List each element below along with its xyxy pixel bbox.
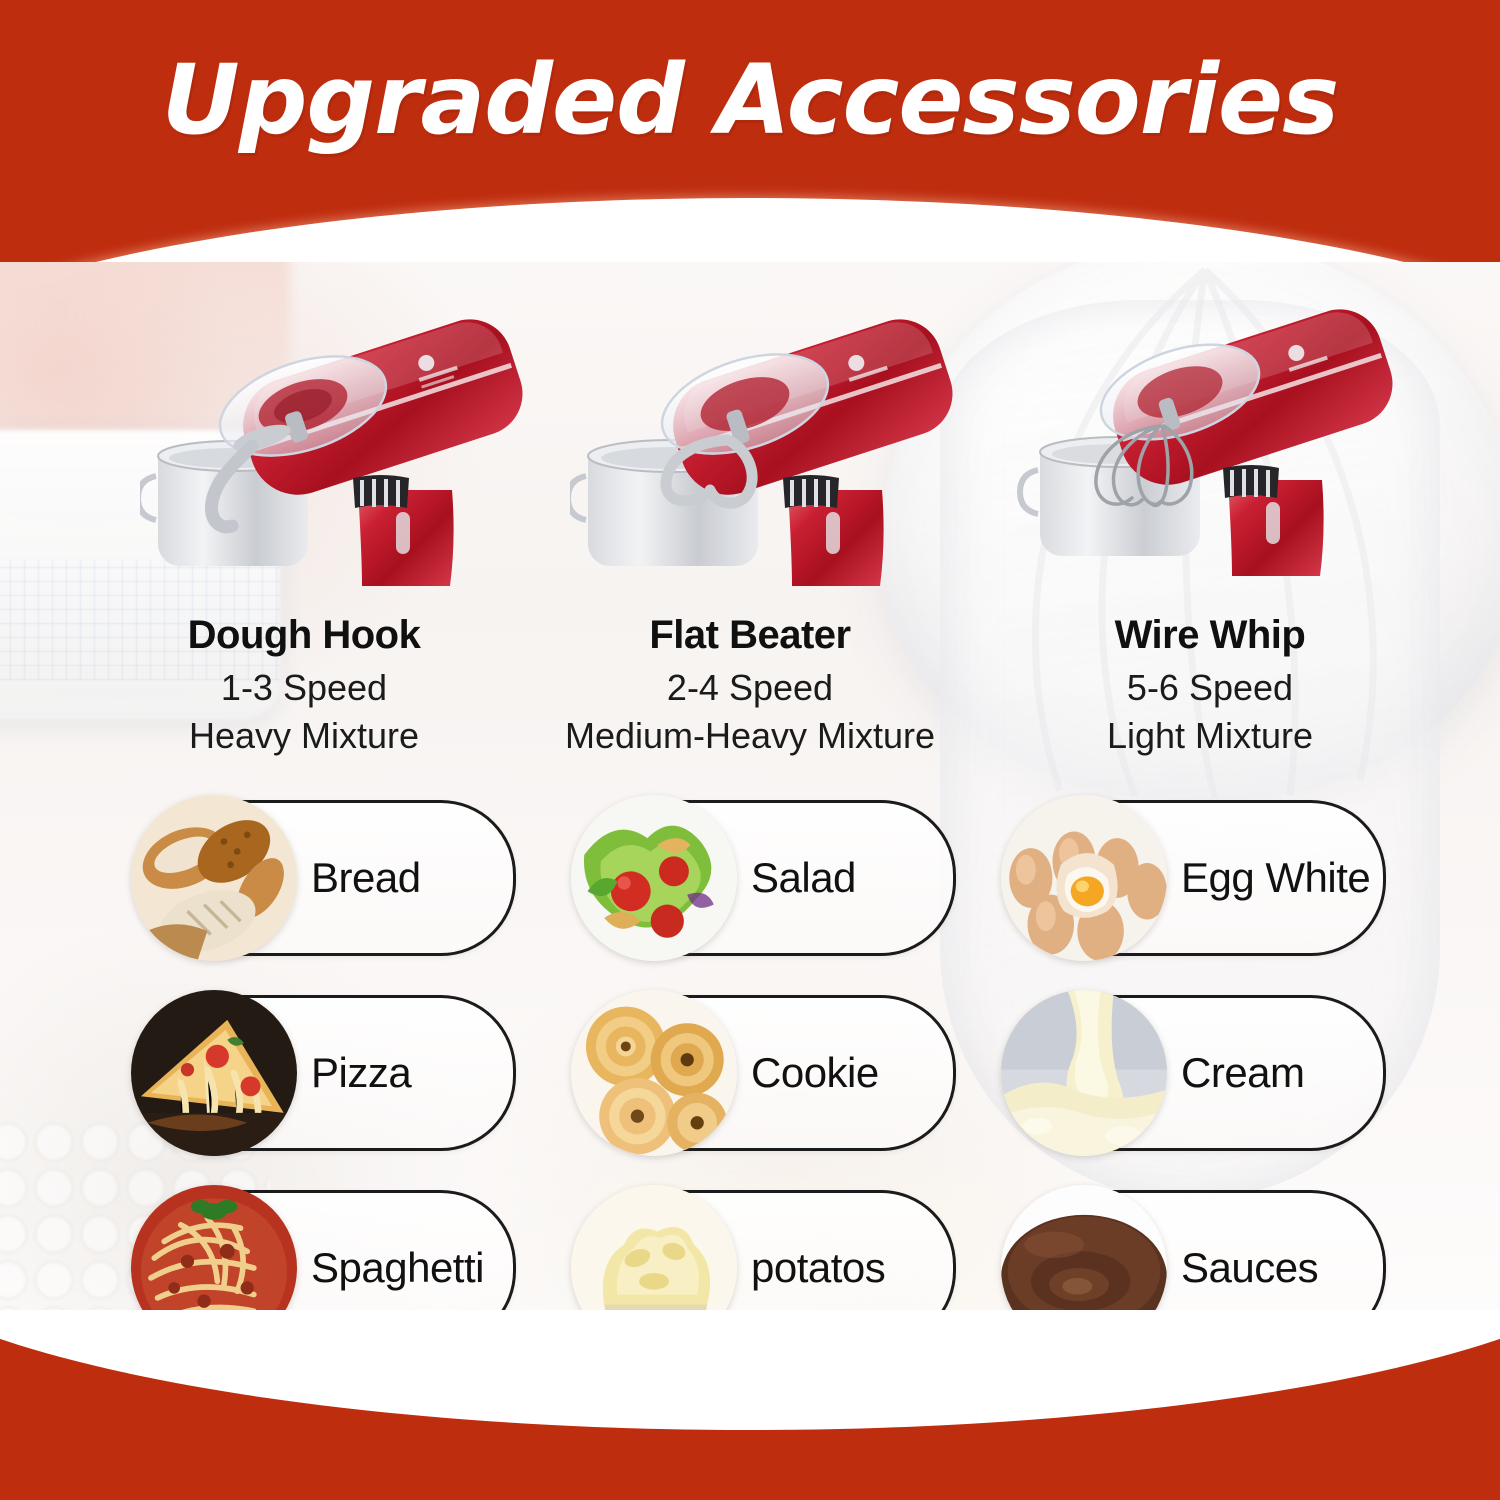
use-case-grid: Bread Pizza xyxy=(0,800,1500,1360)
use-case-pill: Egg White xyxy=(1010,800,1386,956)
eggwhite-thumb-icon xyxy=(1001,795,1167,961)
pizza-thumb-icon xyxy=(131,990,297,1156)
attachment-name: Dough Hook xyxy=(64,612,544,658)
use-case-label: Egg White xyxy=(1181,803,1370,953)
attachment-name: Wire Whip xyxy=(970,612,1450,658)
mixer-illustration-row xyxy=(0,275,1500,605)
infographic-canvas: Upgraded Accessories xyxy=(0,0,1500,1500)
footer-curve-divider xyxy=(0,1310,1500,1430)
attachment-mixture: Light Mixture xyxy=(970,713,1450,760)
use-case-pill: Salad xyxy=(580,800,956,956)
bread-thumb-icon xyxy=(131,795,297,961)
use-case-label: Pizza xyxy=(311,998,411,1148)
column-heading-flat-beater: Flat Beater 2-4 Speed Medium-Heavy Mixtu… xyxy=(510,612,990,759)
use-case-label: Cream xyxy=(1181,998,1305,1148)
attachment-speed: 5-6 Speed xyxy=(970,664,1450,713)
mixer-flat-beater-image xyxy=(570,280,990,600)
header-banner: Upgraded Accessories xyxy=(0,0,1500,262)
header-curve-divider xyxy=(0,198,1500,262)
page-title: Upgraded Accessories xyxy=(0,44,1500,156)
use-case-pill: Cookie xyxy=(580,995,956,1151)
attachment-mixture: Medium-Heavy Mixture xyxy=(510,713,990,760)
use-case-pill: Bread xyxy=(140,800,516,956)
mixer-wire-whip-image xyxy=(1010,270,1430,590)
cream-thumb-icon xyxy=(1001,990,1167,1156)
column-heading-dough-hook: Dough Hook 1-3 Speed Heavy Mixture xyxy=(64,612,544,759)
footer-banner xyxy=(0,1310,1500,1500)
mixer-dough-hook-image xyxy=(140,280,560,600)
use-case-label: Bread xyxy=(311,803,421,953)
attachment-speed: 1-3 Speed xyxy=(64,664,544,713)
attachment-speed: 2-4 Speed xyxy=(510,664,990,713)
cookie-thumb-icon xyxy=(571,990,737,1156)
use-case-label: Cookie xyxy=(751,998,879,1148)
use-case-pill: Pizza xyxy=(140,995,516,1151)
column-heading-wire-whip: Wire Whip 5-6 Speed Light Mixture xyxy=(970,612,1450,759)
use-case-label: Salad xyxy=(751,803,856,953)
attachment-name: Flat Beater xyxy=(510,612,990,658)
use-case-pill: Cream xyxy=(1010,995,1386,1151)
attachment-mixture: Heavy Mixture xyxy=(64,713,544,760)
column-headings: Dough Hook 1-3 Speed Heavy Mixture Flat … xyxy=(0,612,1500,782)
salad-thumb-icon xyxy=(571,795,737,961)
